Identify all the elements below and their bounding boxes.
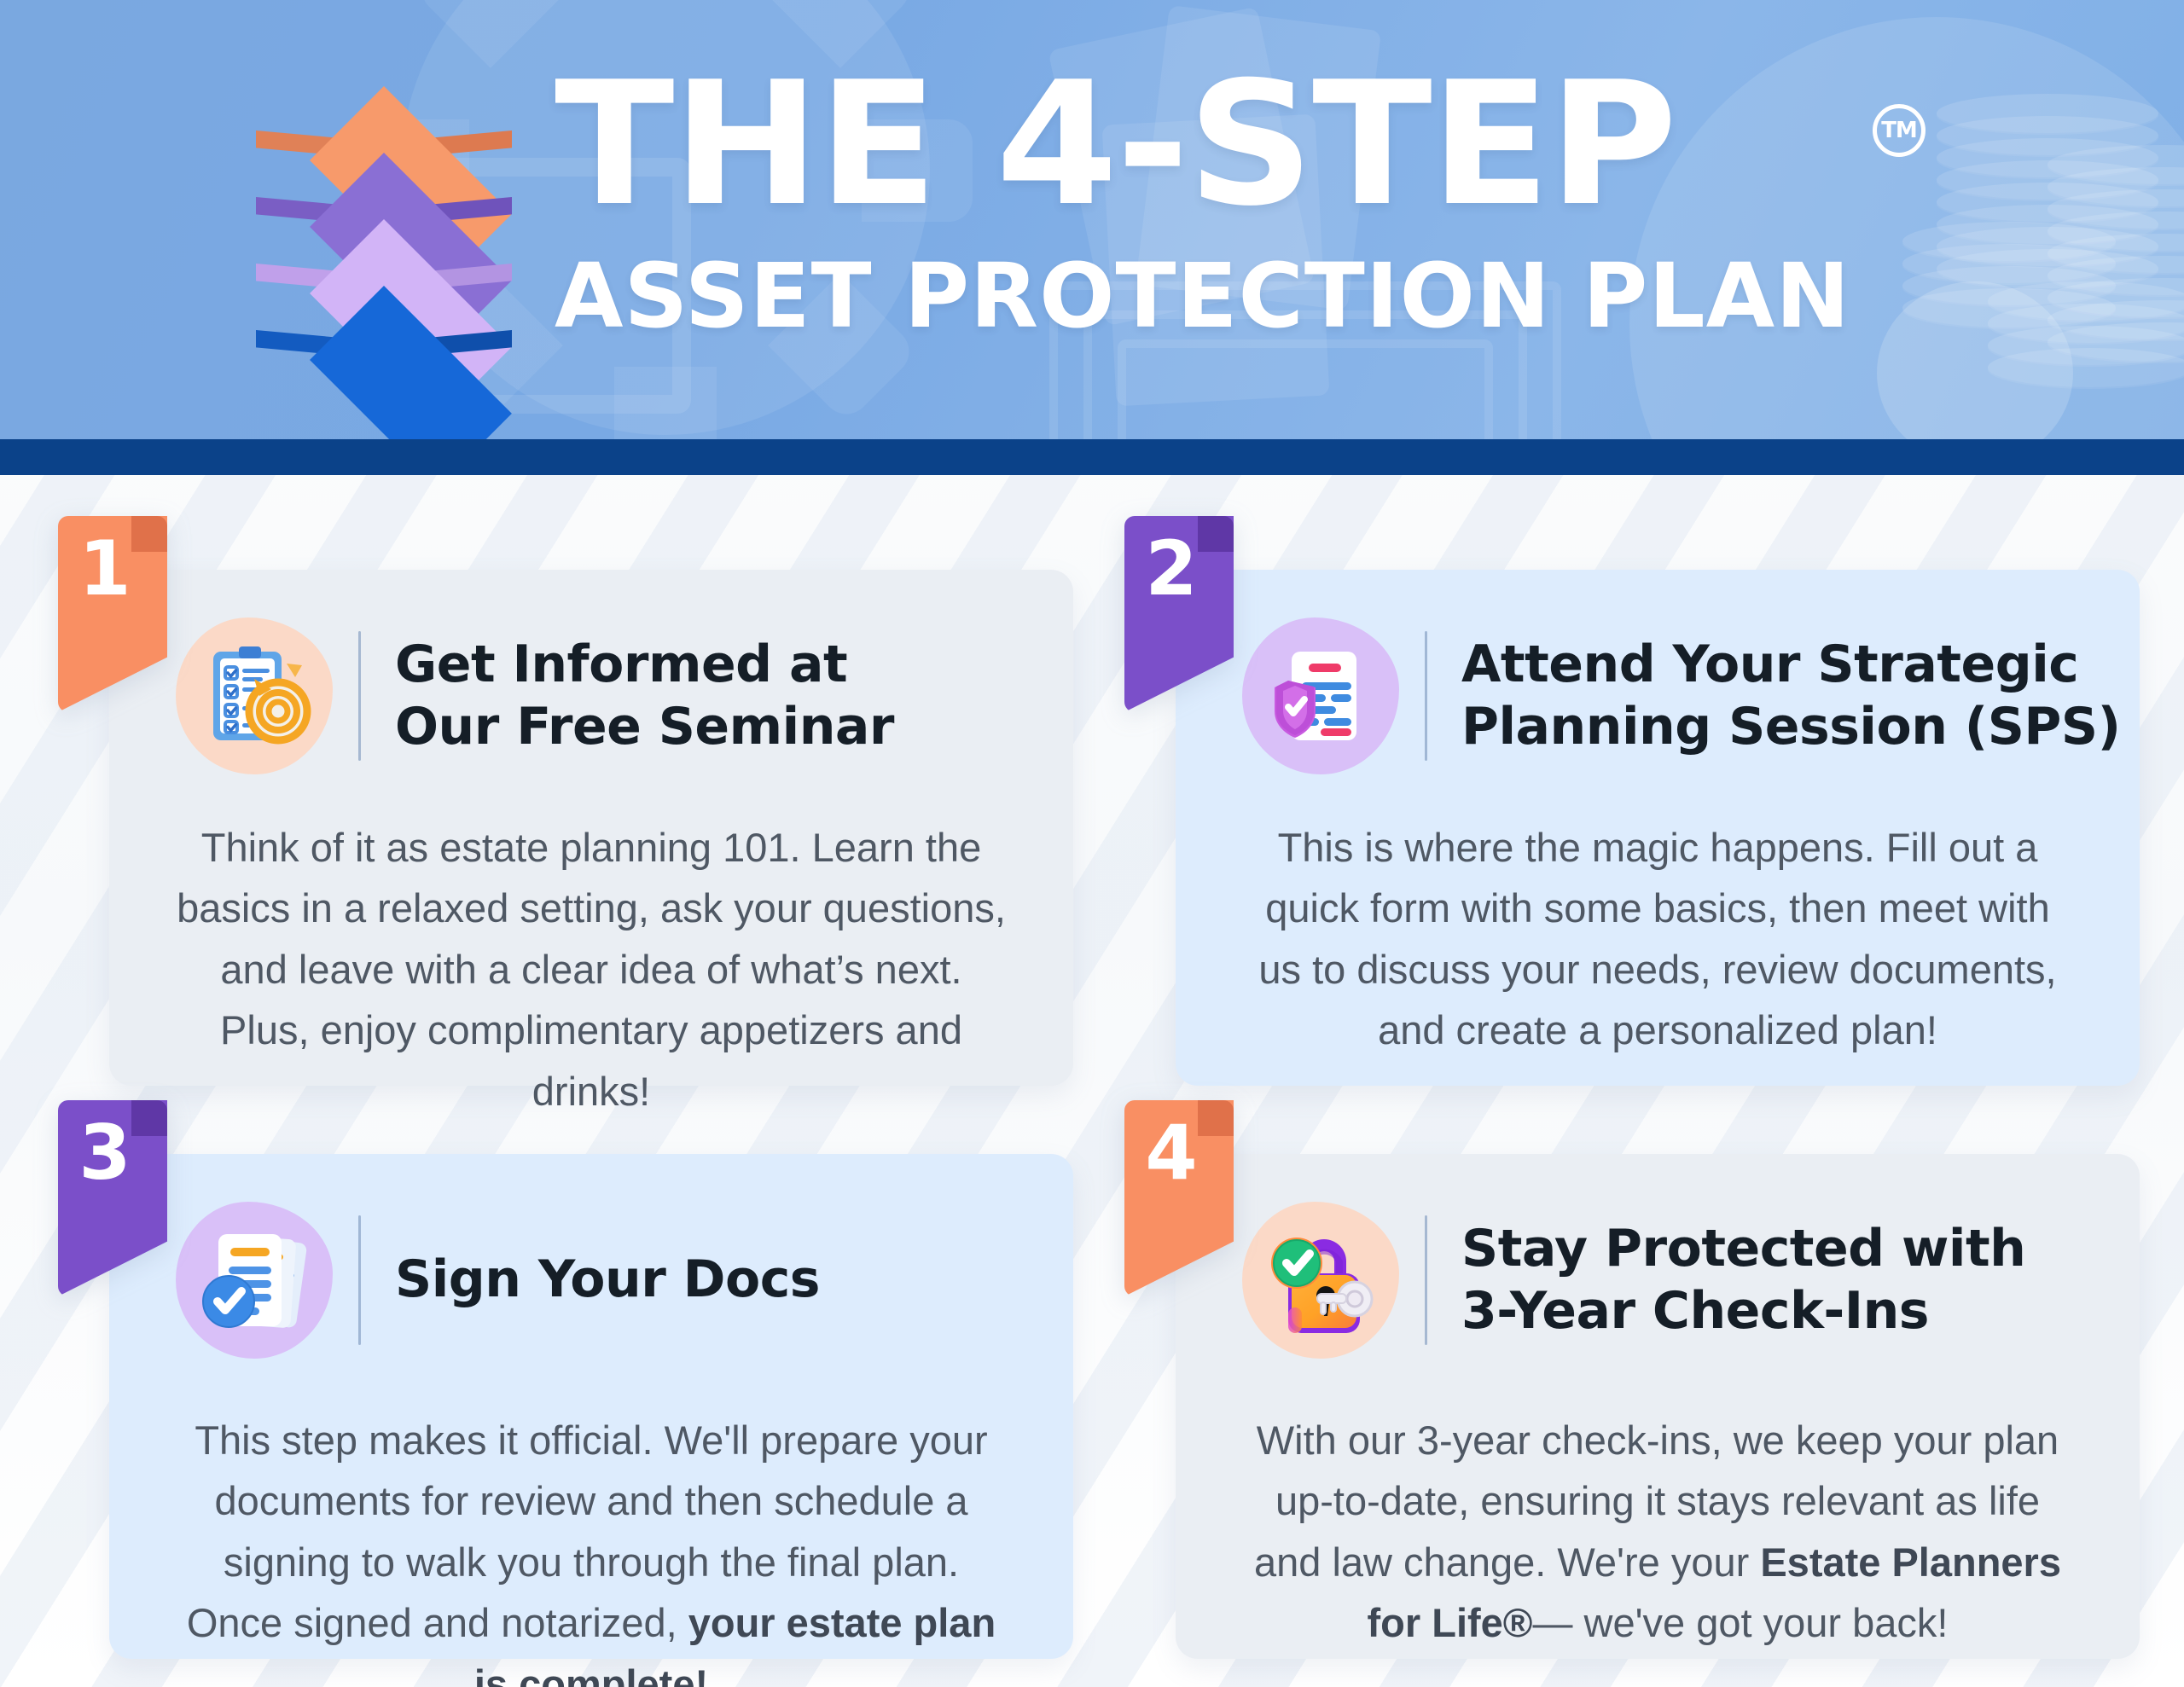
step-card-3: Sign Your Docs This step makes it offici… [58, 1100, 1073, 1663]
clipboard-target-glyph [169, 611, 340, 781]
card-title: Sign Your Docs [395, 1249, 820, 1311]
title-divider [1425, 1215, 1427, 1345]
card-header: Attend Your Strategic Planning Session (… [1235, 611, 2121, 781]
padlock-key-glyph [1235, 1195, 1406, 1365]
trademark-icon: TM [1873, 104, 1926, 157]
card-header: Stay Protected with 3-Year Check-Ins [1235, 1195, 2025, 1365]
page-subtitle: ASSET PROTECTION PLAN [555, 244, 1850, 348]
step-number: 1 [58, 531, 152, 606]
title-divider [358, 631, 361, 761]
title-block: THE 4-STEP ASSET PROTECTION PLAN [555, 67, 1850, 348]
step-card-2: Attend Your Strategic Planning Session (… [1124, 516, 2140, 1096]
step-card-4: Stay Protected with 3-Year Check-Ins Wit… [1124, 1100, 2140, 1663]
step-number: 4 [1124, 1116, 1218, 1191]
signed-documents-check-icon [169, 1195, 340, 1365]
page-title: THE 4-STEP [555, 67, 1890, 223]
card-header: Get Informed at Our Free Seminar [169, 611, 894, 781]
navy-divider-band [0, 439, 2184, 475]
step-number-ribbon: 1 [58, 516, 167, 712]
steps-grid: Get Informed at Our Free Seminar Think o… [0, 499, 2184, 1687]
card-header: Sign Your Docs [169, 1195, 820, 1365]
title-divider [358, 1215, 361, 1345]
step-card-1: Get Informed at Our Free Seminar Think o… [58, 516, 1073, 1096]
card-title: Get Informed at Our Free Seminar [395, 634, 894, 758]
documents-check-glyph [169, 1195, 340, 1365]
step-number: 3 [58, 1116, 152, 1191]
card-body-text: This step makes it official. We'll prepa… [176, 1410, 1007, 1687]
header-banner: THE 4-STEP ASSET PROTECTION PLAN TM [0, 0, 2184, 439]
card-body-text: Think of it as estate planning 101. Lear… [176, 817, 1007, 1122]
card-surface: Sign Your Docs This step makes it offici… [109, 1154, 1073, 1659]
title-divider [1425, 631, 1427, 761]
padlock-key-check-icon [1235, 1195, 1406, 1365]
clipboard-target-icon [169, 611, 340, 781]
card-title: Attend Your Strategic Planning Session (… [1461, 634, 2121, 758]
stacked-layers-logo-icon [256, 81, 512, 375]
card-title: Stay Protected with 3-Year Check-Ins [1461, 1218, 2025, 1342]
card-body-text: This is where the magic happens. Fill ou… [1242, 817, 2073, 1061]
step-number-ribbon: 2 [1124, 516, 1234, 712]
card-surface: Stay Protected with 3-Year Check-Ins Wit… [1176, 1154, 2140, 1659]
card-surface: Attend Your Strategic Planning Session (… [1176, 570, 2140, 1086]
document-shield-glyph [1235, 611, 1406, 781]
step-number-ribbon: 4 [1124, 1100, 1234, 1296]
card-surface: Get Informed at Our Free Seminar Think o… [109, 570, 1073, 1086]
document-shield-check-icon [1235, 611, 1406, 781]
step-number: 2 [1124, 531, 1218, 606]
card-body-text: With our 3-year check-ins, we keep your … [1242, 1410, 2073, 1654]
infographic-page: THE 4-STEP ASSET PROTECTION PLAN TM [0, 0, 2184, 1687]
step-number-ribbon: 3 [58, 1100, 167, 1296]
